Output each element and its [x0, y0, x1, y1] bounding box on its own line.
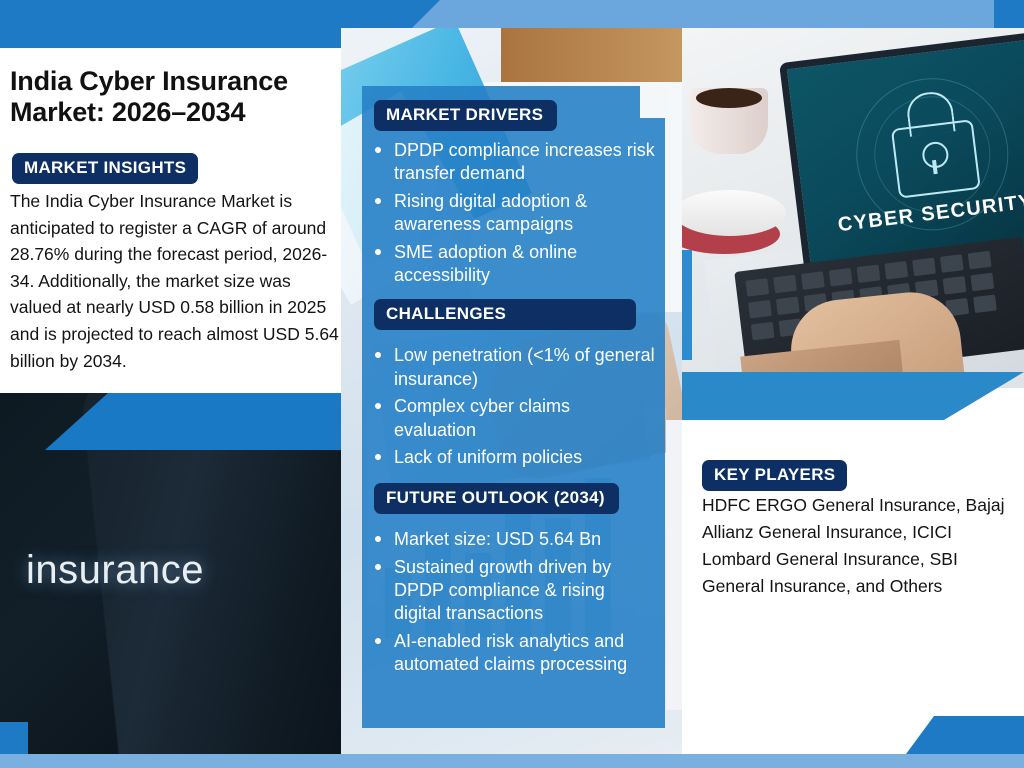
challenges-badge-wrap: CHALLENGES	[362, 291, 665, 330]
coffee-surface-shape	[696, 88, 762, 108]
bottom-light-band	[0, 754, 1024, 768]
list-item: Market size: USD 5.64 Bn	[392, 528, 655, 551]
cyber-security-laptop-photo: CYBER SECURITY	[682, 28, 1024, 388]
list-item: AI-enabled risk analytics and automated …	[392, 630, 655, 677]
key-players-badge-wrap: KEY PLAYERS	[702, 460, 847, 491]
list-item: Rising digital adoption & awareness camp…	[392, 190, 655, 237]
key-players-body: HDFC ERGO General Insurance, Bajaj Allia…	[702, 492, 1014, 600]
right-edge-strip	[666, 420, 682, 710]
future-outlook-badge-wrap: FUTURE OUTLOOK (2034)	[362, 473, 665, 514]
market-drivers-badge: MARKET DRIVERS	[374, 100, 557, 131]
page-title: India Cyber Insurance Market: 2026–2034	[10, 66, 335, 129]
list-item: SME adoption & online accessibility	[392, 241, 655, 288]
market-drivers-list: DPDP compliance increases risk transfer …	[362, 139, 665, 287]
right-blue-parallelogram	[682, 372, 1024, 420]
challenges-list: Low penetration (<1% of general insuranc…	[362, 344, 665, 469]
bottom-right-parallelogram	[906, 716, 1024, 754]
middle-content: MARKET DRIVERS DPDP compliance increases…	[362, 86, 665, 728]
future-outlook-list: Market size: USD 5.64 Bn Sustained growt…	[362, 528, 665, 676]
infographic-canvas: India Cyber Insurance Market: 2026–2034 …	[0, 0, 1024, 768]
list-item: Complex cyber claims evaluation	[392, 395, 655, 442]
desk-wood-shape	[501, 28, 682, 88]
future-outlook-badge: FUTURE OUTLOOK (2034)	[374, 483, 619, 514]
market-insights-badge-wrap: MARKET INSIGHTS	[12, 153, 198, 184]
list-item: Sustained growth driven by DPDP complian…	[392, 556, 655, 626]
list-item: Low penetration (<1% of general insuranc…	[392, 344, 655, 391]
market-insights-badge: MARKET INSIGHTS	[12, 153, 198, 184]
list-item: DPDP compliance increases risk transfer …	[392, 139, 655, 186]
market-drivers-badge-wrap: MARKET DRIVERS	[362, 86, 665, 131]
key-players-badge: KEY PLAYERS	[702, 460, 847, 491]
list-item: Lack of uniform policies	[392, 446, 655, 469]
right-photo-blue-edge	[682, 250, 692, 360]
bottom-left-square-accent	[0, 722, 28, 754]
insurance-photo-caption: insurance	[26, 548, 204, 593]
challenges-badge: CHALLENGES	[374, 299, 636, 330]
left-column-text-block: India Cyber Insurance Market: 2026–2034 …	[0, 48, 341, 393]
market-insights-body: The India Cyber Insurance Market is anti…	[10, 188, 340, 374]
